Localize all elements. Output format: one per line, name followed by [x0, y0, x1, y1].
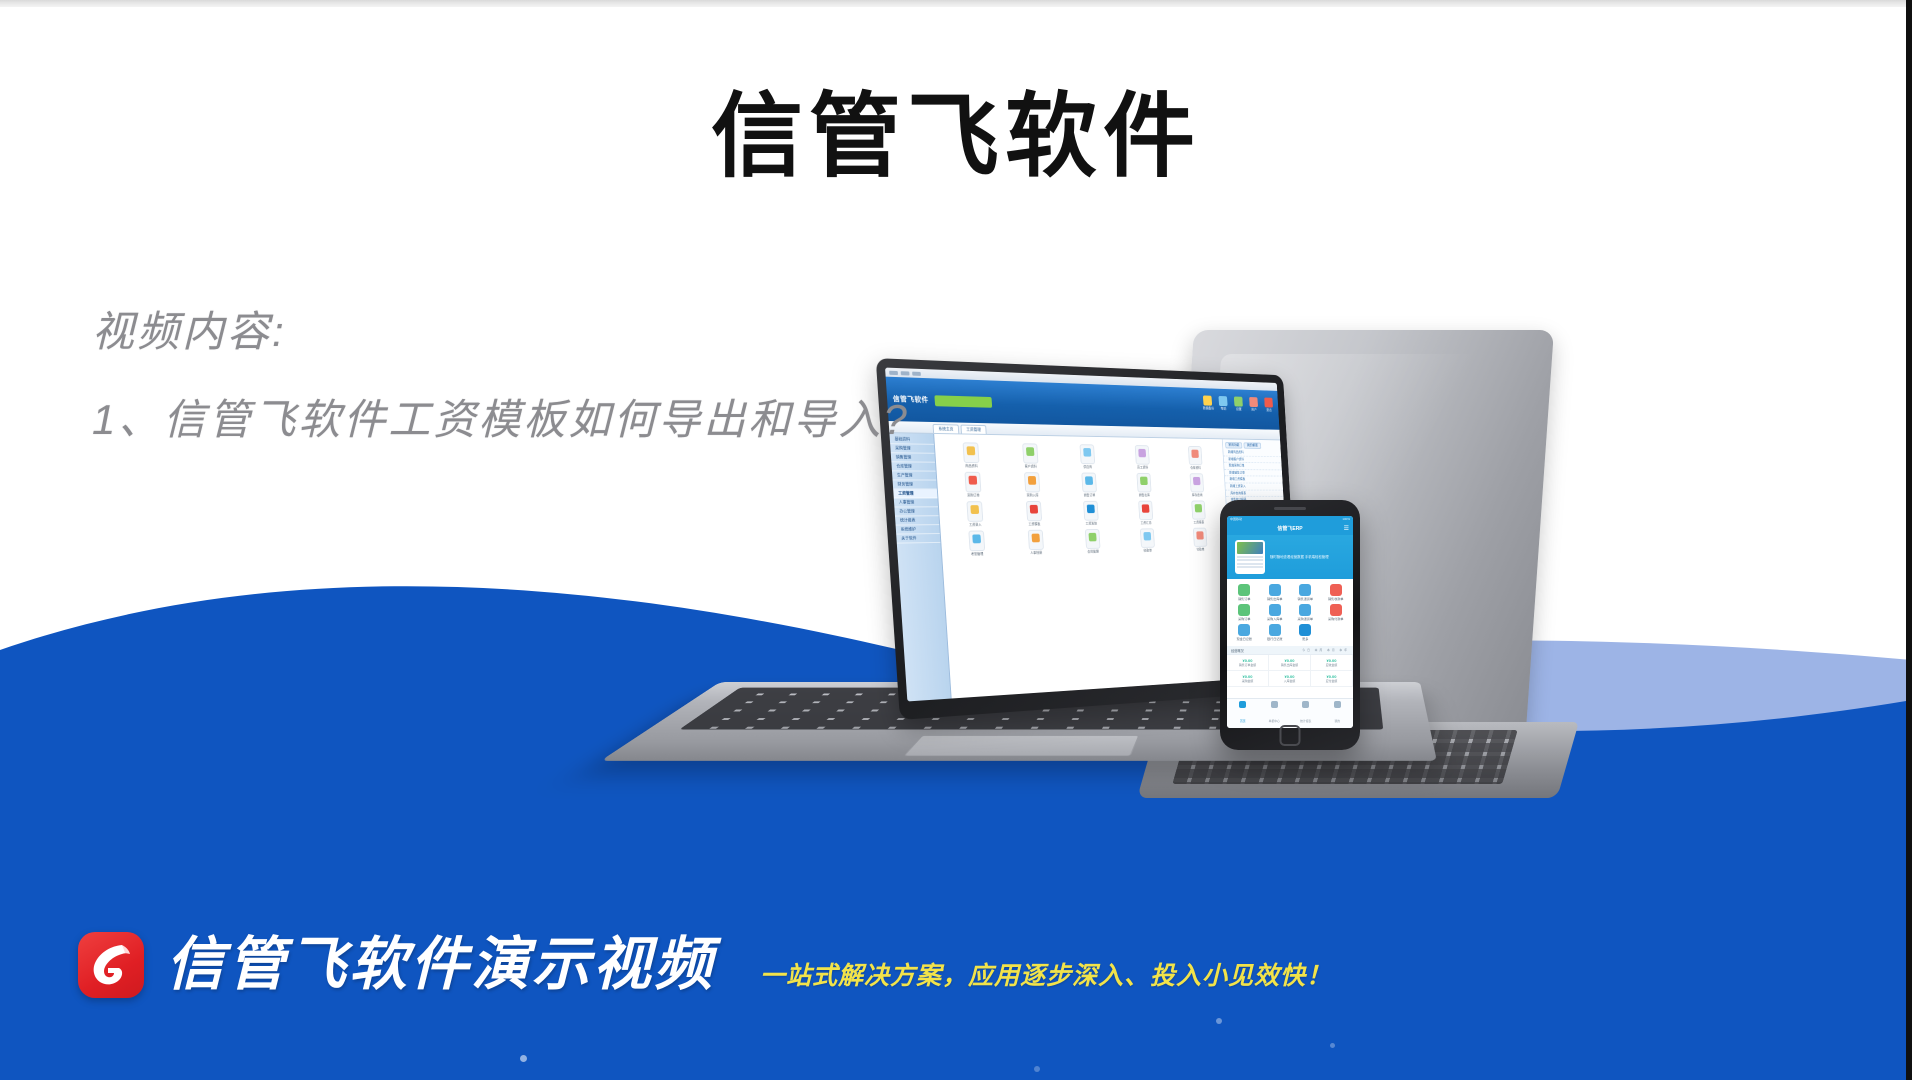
- ribbon-tool-icon: [1264, 398, 1273, 408]
- module-icon[interactable]: 工资发放: [1063, 501, 1119, 526]
- right-panel-tab[interactable]: 常用功能: [1225, 442, 1243, 449]
- phone-carrier-label: 中国移动: [1230, 517, 1242, 521]
- sidebar-item[interactable]: 人事管理: [894, 498, 938, 507]
- decor-dot: [1034, 1066, 1040, 1072]
- sidebar-item[interactable]: 工资管理: [893, 489, 937, 498]
- phone-module-icon[interactable]: 销售订单: [1229, 584, 1260, 601]
- module-icon[interactable]: 采购入库: [1003, 472, 1061, 497]
- page-title: 信管飞软件: [0, 62, 1912, 195]
- decor-dot: [1216, 1018, 1222, 1024]
- phone-nav-label: 我的: [1334, 719, 1340, 723]
- ribbon-tool-icon: [1218, 396, 1227, 406]
- module-icon-glyph: [1084, 529, 1100, 549]
- module-icon-glyph: [1081, 473, 1097, 493]
- ribbon-tool-icon: [1234, 397, 1243, 407]
- phone-module-label: 现金日记账: [1229, 637, 1260, 641]
- phone-nav-label: 首页: [1240, 719, 1246, 723]
- module-icon[interactable]: 采购订单: [942, 472, 1002, 498]
- phone-module-icon[interactable]: 销售收款单: [1321, 584, 1352, 601]
- phone-stat-label: 销售出库金额: [1269, 663, 1310, 667]
- module-icon-label: 商品资料: [942, 464, 1001, 468]
- sidebar-item[interactable]: 办公管理: [894, 507, 938, 516]
- phone-module-glyph: [1238, 604, 1250, 616]
- module-icon[interactable]: 员工资料: [1115, 445, 1169, 470]
- phone-module-label: 销售订单: [1229, 597, 1260, 601]
- module-icon-label: 合同管理: [1066, 549, 1120, 554]
- module-icon-glyph: [1022, 443, 1038, 463]
- laptop-trackpad: [903, 735, 1139, 756]
- phone-nav-item[interactable]: 单据中心: [1259, 701, 1291, 727]
- app-tab[interactable]: 系统主页: [933, 424, 960, 433]
- ribbon-search-input[interactable]: [934, 395, 992, 408]
- phone-stat-cell: ¥0.00销售出库金额: [1269, 655, 1311, 671]
- module-icon[interactable]: 收款单: [1120, 528, 1174, 553]
- phone-module-label: 销售退货单: [1290, 597, 1321, 601]
- phone-app-header: 信管飞ERP ☰: [1227, 522, 1353, 535]
- module-icon-label: 工资录入: [946, 522, 1005, 527]
- module-icon-label: 销售订单: [1062, 493, 1116, 497]
- hamburger-icon[interactable]: ☰: [1344, 525, 1349, 532]
- phone-module-glyph: [1269, 624, 1281, 636]
- phone-bottom-nav: 首页单据中心统计报表我的: [1227, 698, 1353, 728]
- phone-stat-cell: ¥0.00应收金额: [1311, 655, 1353, 671]
- phone-module-glyph: [1299, 624, 1311, 636]
- phone-app-title: 信管飞ERP: [1277, 525, 1302, 532]
- ribbon-tool[interactable]: 退出: [1263, 398, 1274, 412]
- module-icon[interactable]: 考勤管理: [946, 530, 1006, 556]
- module-icon-label: 工资模板: [1006, 522, 1062, 526]
- phone-stat-cell: ¥0.00销售订单金额: [1227, 655, 1269, 671]
- device-mockup-group: 信管飞软件 数据备份帮助设置用户退出 系统主页工资管理 基础资料采购管理销售管理…: [880, 330, 1680, 850]
- phone-module-glyph: [1238, 624, 1250, 636]
- module-icon-grid: 商品资料客户资料供应商员工资料仓库资料采购订单采购入库销售订单销售出库库存查询工…: [934, 434, 1236, 700]
- right-panel-row[interactable]: 新增工资录入: [1225, 483, 1283, 490]
- phone-section-filters[interactable]: 今日 本周 本月 本年: [1302, 648, 1349, 652]
- module-icon-label: 销售出库: [1118, 493, 1170, 497]
- module-icon-label: 工资汇总: [1120, 521, 1172, 525]
- module-icon[interactable]: 仓库资料: [1169, 446, 1221, 470]
- banner-card-line: [1237, 563, 1263, 565]
- phone-module-glyph: [1330, 604, 1342, 616]
- window-right-edge: [1906, 0, 1912, 1080]
- module-icon-glyph: [1134, 445, 1149, 465]
- phone-module-icon[interactable]: 更多: [1290, 624, 1321, 641]
- phone-stat-label: 应收金额: [1311, 663, 1352, 667]
- phone-module-label: 采购入库单: [1260, 617, 1291, 621]
- brand-tagline: 一站式解决方案，应用逐步深入、投入小见效快！: [760, 956, 1332, 992]
- module-icon-glyph: [1027, 530, 1043, 550]
- phone-module-glyph: [1269, 604, 1281, 616]
- phone-module-glyph: [1238, 584, 1250, 596]
- ribbon-tool-icon: [1203, 395, 1212, 405]
- phone-module-label: 销售出库单: [1260, 597, 1291, 601]
- module-icon[interactable]: 人事档案: [1006, 529, 1064, 555]
- content-item-1: 1、信管飞软件工资模板如何导出和导入?: [92, 376, 910, 464]
- phone-stats-grid: ¥0.00销售订单金额¥0.00销售出库金额¥0.00应收金额¥0.00采购金额…: [1227, 654, 1353, 687]
- phone-module-icon[interactable]: 现金日记账: [1229, 624, 1260, 641]
- ribbon-tool-label: 设置: [1234, 407, 1244, 411]
- phone-module-label: 采购退货单: [1290, 617, 1321, 621]
- module-icon[interactable]: 供应商: [1059, 444, 1115, 469]
- ribbon-tool-icon: [1249, 397, 1258, 407]
- sidebar-item[interactable]: 生产管理: [892, 471, 936, 480]
- module-icon-glyph: [1079, 444, 1095, 464]
- phone-module-icon[interactable]: 销售出库单: [1260, 584, 1291, 601]
- module-icon-glyph: [1192, 528, 1206, 547]
- module-icon[interactable]: 工资模板: [1005, 501, 1063, 526]
- module-icon[interactable]: 工资录入: [944, 501, 1004, 527]
- module-icon-label: 库存查询: [1172, 493, 1223, 497]
- phone-battery-label: 100%: [1342, 517, 1350, 521]
- module-icon-label: 收款单: [1121, 548, 1173, 553]
- decor-dot: [1330, 1043, 1335, 1048]
- phone-module-glyph: [1299, 584, 1311, 596]
- brand-name: 信管飞软件演示视频: [166, 936, 715, 994]
- phone-section-header: 经营概况 今日 本周 本月 本年: [1227, 646, 1353, 654]
- phone-screen: 中国移动 100% 信管飞ERP ☰ 随时随地查看经营数据 手机端轻松管理: [1227, 516, 1353, 728]
- phone-stat-cell: ¥0.00采购金额: [1227, 671, 1269, 687]
- phone-banner-card: [1235, 540, 1265, 574]
- module-icon-label: 工资发放: [1064, 521, 1118, 525]
- phone-nav-item[interactable]: 统计报表: [1290, 701, 1322, 727]
- ribbon-tool[interactable]: 设置: [1233, 396, 1244, 411]
- banner-card-line: [1237, 556, 1263, 558]
- module-icon-glyph: [1024, 472, 1040, 492]
- phone-home-button[interactable]: [1280, 725, 1301, 746]
- phone-module-glyph: [1269, 584, 1281, 596]
- module-icon[interactable]: 商品资料: [940, 442, 1000, 468]
- phone-nav-label: 单据中心: [1269, 719, 1280, 723]
- module-icon[interactable]: 客户资料: [1001, 443, 1059, 469]
- module-icon[interactable]: 付款单: [1174, 527, 1226, 551]
- ribbon-tool[interactable]: 帮助: [1218, 396, 1229, 411]
- phone-stat-cell: ¥0.00入库金额: [1269, 671, 1311, 687]
- module-icon-glyph: [1136, 473, 1151, 492]
- phone-stat-label: 入库金额: [1269, 679, 1310, 683]
- module-icon-glyph: [1025, 501, 1041, 521]
- sidebar-item[interactable]: 关于软件: [896, 534, 940, 544]
- phone-nav-label: 统计报表: [1300, 719, 1311, 723]
- module-icon-glyph: [1138, 501, 1153, 520]
- phone-stat-label: 应付金额: [1311, 679, 1352, 683]
- module-icon-label: 工资报表: [1173, 520, 1223, 524]
- brand-row: 信管飞软件演示视频: [78, 932, 715, 998]
- phone-module-icon[interactable]: 采购退货单: [1290, 604, 1321, 621]
- module-icon[interactable]: 工资汇总: [1118, 501, 1172, 525]
- phone-nav-icon: [1239, 701, 1246, 708]
- module-icon-label: 考勤管理: [948, 552, 1007, 557]
- presentation-slide: 信管飞软件 视频内容: 1、信管飞软件工资模板如何导出和导入?: [0, 0, 1912, 1080]
- phone-module-glyph: [1330, 584, 1342, 596]
- module-icon[interactable]: 库存查询: [1170, 473, 1222, 497]
- module-icon-glyph: [964, 472, 981, 493]
- module-icon-glyph: [966, 501, 983, 522]
- ribbon-tool[interactable]: 数据备份: [1202, 395, 1213, 410]
- phone-banner: 随时随地查看经营数据 手机端轻松管理: [1227, 535, 1353, 579]
- module-icon-label: 采购入库: [1004, 493, 1061, 497]
- right-panel-tab[interactable]: 我的桌面: [1244, 442, 1261, 449]
- titlebar-dot: [912, 371, 921, 375]
- ribbon-tool-label: 用户: [1249, 408, 1259, 412]
- phone-nav-item[interactable]: 我的: [1322, 701, 1354, 727]
- module-icon-glyph: [1189, 473, 1204, 492]
- phone-module-icon[interactable]: 银行日记账: [1260, 624, 1291, 641]
- phone-module-label: 银行日记账: [1260, 637, 1291, 641]
- module-icon-glyph: [968, 530, 985, 551]
- ribbon-tool-label: 退出: [1264, 408, 1274, 412]
- phone-nav-icon: [1334, 701, 1341, 708]
- banner-card-line: [1237, 559, 1263, 561]
- banner-card-line: [1237, 566, 1263, 568]
- phone-module-icon[interactable]: 采购入库单: [1260, 604, 1291, 621]
- module-icon-glyph: [1191, 501, 1206, 520]
- phone-nav-icon: [1302, 701, 1309, 708]
- phone-module-glyph: [1299, 604, 1311, 616]
- ribbon-tool-group: 数据备份帮助设置用户退出: [1202, 395, 1274, 412]
- phone-module-label: 更多: [1290, 637, 1321, 641]
- module-icon-glyph: [1188, 446, 1203, 465]
- module-icon-label: 供应商: [1060, 465, 1114, 469]
- ribbon-tool-label: 数据备份: [1203, 406, 1213, 410]
- sidebar-item[interactable]: 统计报表: [895, 516, 939, 525]
- module-icon-glyph: [1139, 528, 1154, 548]
- phone-module-label: 销售收款单: [1321, 597, 1352, 601]
- phone-module-icon[interactable]: 采购付款单: [1321, 604, 1352, 621]
- phone-module-icon[interactable]: 销售退货单: [1290, 584, 1321, 601]
- module-icon-label: 仓库资料: [1170, 466, 1221, 470]
- phone-speaker: [1274, 507, 1306, 510]
- module-icon-label: 采购订单: [944, 493, 1003, 497]
- video-content-block: 视频内容: 1、信管飞软件工资模板如何导出和导入?: [92, 288, 910, 464]
- phone-nav-item[interactable]: 首页: [1227, 701, 1259, 727]
- xgf-bird-logo-icon: [78, 932, 144, 998]
- phone-stat-label: 销售订单金额: [1227, 663, 1268, 667]
- module-icon[interactable]: 销售出库: [1117, 473, 1171, 497]
- phone-mockup: 中国移动 100% 信管飞ERP ☰ 随时随地查看经营数据 手机端轻松管理: [1220, 500, 1360, 750]
- module-icon-glyph: [962, 442, 979, 463]
- module-icon-label: 付款单: [1175, 547, 1225, 552]
- module-icon[interactable]: 合同管理: [1064, 529, 1120, 554]
- module-icon-label: 员工资料: [1116, 465, 1168, 469]
- module-icon-glyph: [1083, 501, 1099, 521]
- module-icon[interactable]: 工资报表: [1172, 500, 1224, 524]
- decor-dot: [520, 1055, 527, 1062]
- sidebar-item[interactable]: 财务管理: [893, 480, 937, 489]
- phone-module-label: 采购付款单: [1321, 617, 1352, 621]
- content-heading: 视频内容:: [92, 288, 910, 376]
- ribbon-tool[interactable]: 用户: [1248, 397, 1259, 412]
- banner-card-image: [1237, 542, 1263, 554]
- phone-stat-cell: ¥0.00应付金额: [1311, 671, 1353, 687]
- ribbon-tool-label: 帮助: [1218, 407, 1228, 411]
- module-icon-label: 客户资料: [1002, 464, 1059, 468]
- module-icon-label: 人事档案: [1008, 550, 1064, 555]
- phone-banner-text: 随时随地查看经营数据 手机端轻松管理: [1270, 555, 1329, 560]
- phone-nav-icon: [1271, 701, 1278, 708]
- phone-stat-label: 采购金额: [1227, 679, 1268, 683]
- phone-module-icon[interactable]: 采购订单: [1229, 604, 1260, 621]
- phone-section-title: 经营概况: [1231, 648, 1244, 653]
- footer-bar: 信管飞软件演示视频 一站式解决方案，应用逐步深入、投入小见效快！: [0, 880, 1912, 1080]
- phone-module-grid: 销售订单销售出库单销售退货单销售收款单采购订单采购入库单采购退货单采购付款单现金…: [1227, 579, 1353, 646]
- phone-module-label: 采购订单: [1229, 617, 1260, 621]
- app-tab[interactable]: 工资管理: [960, 425, 986, 434]
- module-icon[interactable]: 销售订单: [1061, 472, 1117, 497]
